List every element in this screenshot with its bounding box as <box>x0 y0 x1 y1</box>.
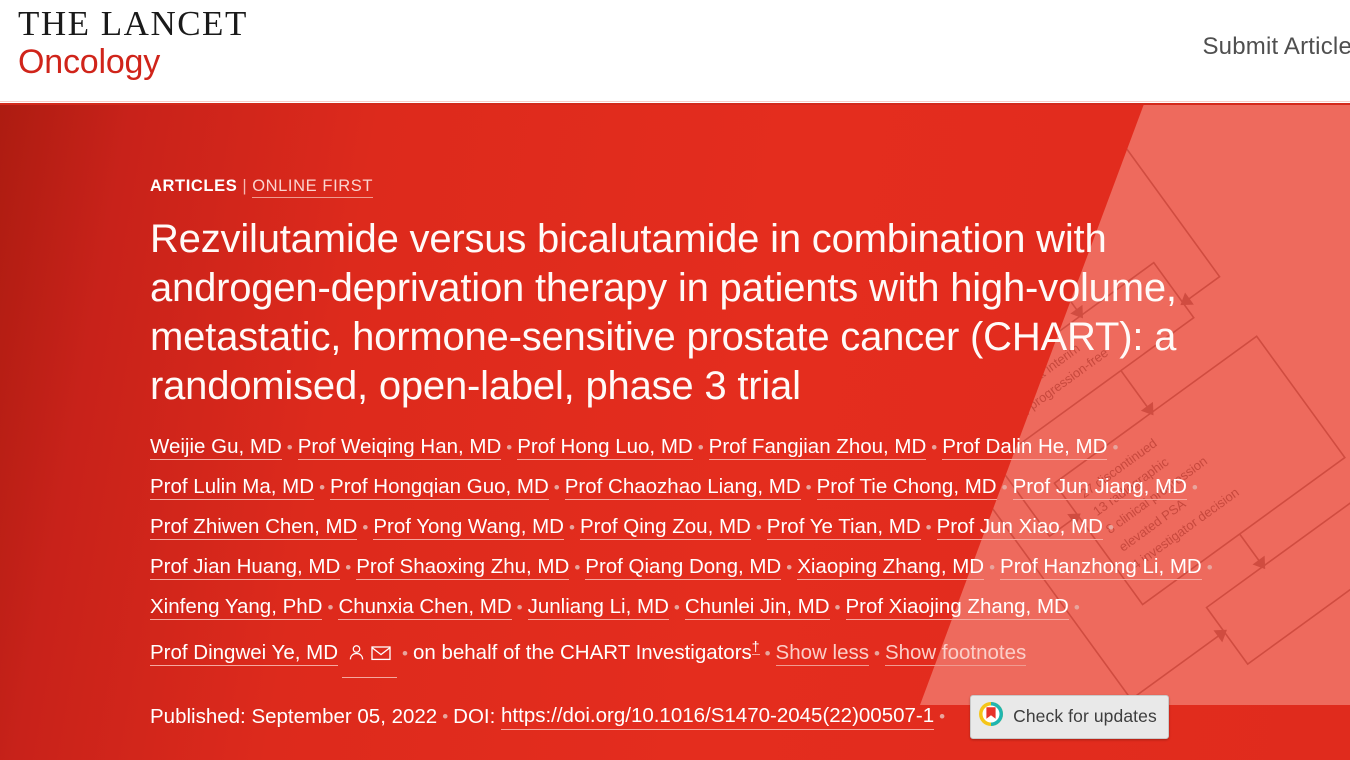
bullet-separator: • <box>835 588 841 627</box>
author-link[interactable]: Prof Chaozhao Liang, MD <box>565 475 801 500</box>
person-icon[interactable] <box>347 636 366 675</box>
bullet-separator: • <box>874 634 880 673</box>
doi-label: DOI: <box>453 705 495 729</box>
author-link[interactable]: Prof Tie Chong, MD <box>817 475 997 500</box>
site-logo[interactable]: THE LANCET Oncology <box>18 6 248 82</box>
bullet-separator: • <box>402 634 408 673</box>
kicker-section-label[interactable]: ARTICLES <box>150 177 237 195</box>
bullet-separator: • <box>554 468 560 507</box>
bullet-separator: • <box>786 548 792 587</box>
bullet-separator: • <box>1192 468 1198 507</box>
corresponding-author-link[interactable]: Prof Dingwei Ye, MD <box>150 641 338 666</box>
bullet-separator: • <box>806 468 812 507</box>
bullet-separator: • <box>931 428 937 467</box>
published-date: September 05, 2022 <box>251 705 437 729</box>
bullet-separator: • <box>939 707 945 727</box>
bullet-separator: • <box>989 548 995 587</box>
bullet-separator: • <box>1074 588 1080 627</box>
author-link[interactable]: Prof Jun Xiao, MD <box>937 515 1103 540</box>
bullet-separator: • <box>287 428 293 467</box>
bullet-separator: • <box>1002 468 1008 507</box>
author-link[interactable]: Weijie Gu, MD <box>150 435 282 460</box>
bullet-separator: • <box>345 548 351 587</box>
bullet-separator: • <box>674 588 680 627</box>
doi-link[interactable]: https://doi.org/10.1016/S1470-2045(22)00… <box>501 704 934 730</box>
bullet-separator: • <box>506 428 512 467</box>
logo-the-lancet: THE LANCET <box>18 6 248 41</box>
author-link[interactable]: Prof Hong Luo, MD <box>517 435 692 460</box>
author-link[interactable]: Xinfeng Yang, PhD <box>150 595 322 620</box>
article-meta: Published: September 05, 2022 • DOI: htt… <box>150 695 1350 739</box>
author-link[interactable]: Prof Shaoxing Zhu, MD <box>356 555 569 580</box>
bullet-separator: • <box>327 588 333 627</box>
bullet-separator: • <box>756 508 762 547</box>
bullet-separator: • <box>442 707 448 727</box>
header-nav: Submit Article <box>1202 33 1350 61</box>
author-link[interactable]: Prof Hongqian Guo, MD <box>330 475 549 500</box>
article-hero-banner: 218 ongoing at interim analysis, progres… <box>0 105 1350 760</box>
article-title: Rezvilutamide versus bicalutamide in com… <box>150 215 1260 411</box>
bullet-separator: • <box>926 508 932 547</box>
author-link[interactable]: Prof Jun Jiang, MD <box>1013 475 1187 500</box>
envelope-icon[interactable] <box>370 636 392 675</box>
crossmark-check-for-updates-button[interactable]: Check for updates <box>970 695 1169 739</box>
author-link[interactable]: Prof Hanzhong Li, MD <box>1000 555 1202 580</box>
bullet-separator: • <box>362 508 368 547</box>
author-link[interactable]: Prof Weiqing Han, MD <box>298 435 502 460</box>
footnote-dagger[interactable]: † <box>752 638 760 655</box>
author-link[interactable]: Chunlei Jin, MD <box>685 595 830 620</box>
bullet-separator: • <box>765 634 771 673</box>
logo-oncology: Oncology <box>18 43 248 82</box>
author-link[interactable]: Prof Lulin Ma, MD <box>150 475 314 500</box>
author-link[interactable]: Prof Yong Wang, MD <box>373 515 564 540</box>
bullet-separator: • <box>698 428 704 467</box>
author-link[interactable]: Prof Qiang Dong, MD <box>585 555 781 580</box>
author-link[interactable]: Prof Zhiwen Chen, MD <box>150 515 357 540</box>
author-link[interactable]: Chunxia Chen, MD <box>338 595 511 620</box>
author-link[interactable]: Junliang Li, MD <box>528 595 669 620</box>
author-list-items: Weijie Gu, MD•Prof Weiqing Han, MD•Prof … <box>150 435 1218 664</box>
bullet-separator: • <box>1207 548 1213 587</box>
author-link[interactable]: Prof Ye Tian, MD <box>767 515 921 540</box>
show-footnotes-link[interactable]: Show footnotes <box>885 641 1026 666</box>
site-header: THE LANCET Oncology Submit Article <box>0 0 1350 105</box>
author-link[interactable]: Prof Fangjian Zhou, MD <box>709 435 927 460</box>
published-label: Published: <box>150 705 246 729</box>
kicker-online-first-link[interactable]: ONLINE FIRST <box>252 177 373 198</box>
author-link[interactable]: Prof Dalin He, MD <box>942 435 1107 460</box>
bullet-separator: • <box>1112 428 1118 467</box>
article-kicker: ARTICLES|ONLINE FIRST <box>150 178 1350 195</box>
bullet-separator: • <box>574 548 580 587</box>
on-behalf-label: on behalf of the CHART Investigators <box>413 641 752 664</box>
author-list: Weijie Gu, MD•Prof Weiqing Han, MD•Prof … <box>150 427 1220 678</box>
bullet-separator: • <box>1108 508 1114 547</box>
bullet-separator: • <box>517 588 523 627</box>
crossmark-logo-icon <box>978 701 1004 733</box>
submit-article-link[interactable]: Submit Article <box>1202 33 1350 60</box>
kicker-separator: | <box>242 177 247 195</box>
crossmark-label: Check for updates <box>1013 706 1157 727</box>
author-contact-icons <box>342 633 397 678</box>
show-less-link[interactable]: Show less <box>776 641 869 666</box>
author-link[interactable]: Prof Jian Huang, MD <box>150 555 340 580</box>
on-behalf-of-text: on behalf of the CHART Investigators† <box>413 641 760 664</box>
author-link[interactable]: Xiaoping Zhang, MD <box>797 555 984 580</box>
bullet-separator: • <box>569 508 575 547</box>
author-link[interactable]: Prof Xiaojing Zhang, MD <box>846 595 1069 620</box>
bullet-separator: • <box>319 468 325 507</box>
author-link[interactable]: Prof Qing Zou, MD <box>580 515 751 540</box>
